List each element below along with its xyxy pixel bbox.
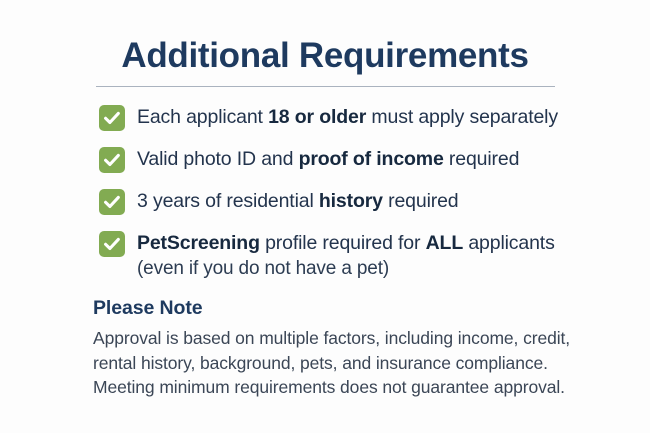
requirement-emphasis: ALL: [426, 232, 463, 254]
requirement-text: 3 years of residential history required: [137, 188, 459, 214]
requirement-text: Valid photo ID and proof of income requi…: [137, 146, 519, 172]
requirement-plain: profile required for: [260, 232, 426, 254]
title-divider: [96, 86, 555, 87]
requirement-plain: required: [383, 190, 459, 212]
requirements-card: Additional Requirements Each applicant 1…: [0, 0, 650, 433]
requirement-plain: Valid photo ID and: [137, 148, 299, 170]
requirement-emphasis: PetScreening: [137, 232, 260, 254]
requirement-item: Valid photo ID and proof of income requi…: [99, 146, 599, 173]
requirement-text: PetScreening profile required for ALL ap…: [137, 230, 555, 281]
requirement-item: PetScreening profile required for ALL ap…: [99, 230, 599, 281]
requirements-list: Each applicant 18 or older must apply se…: [99, 104, 599, 281]
checkbox-checked-icon[interactable]: [99, 147, 125, 173]
requirement-plain: must apply separately: [366, 106, 558, 128]
please-note-body: Approval is based on multiple factors, i…: [93, 326, 593, 400]
checkbox-checked-icon[interactable]: [99, 105, 125, 131]
please-note-heading: Please Note: [93, 295, 593, 321]
requirement-emphasis: 18 or older: [268, 106, 366, 128]
please-note-line: Approval is based on multiple factors, i…: [93, 326, 593, 351]
requirement-text: Each applicant 18 or older must apply se…: [137, 104, 558, 130]
please-note-line: Meeting minimum requirements does not gu…: [93, 375, 593, 400]
requirement-item: 3 years of residential history required: [99, 188, 599, 215]
requirement-plain: Each applicant: [137, 106, 268, 128]
requirement-subtext: (even if you do not have a pet): [137, 256, 555, 281]
requirement-plain: 3 years of residential: [137, 190, 319, 212]
requirement-emphasis: history: [319, 190, 383, 212]
please-note-line: rental history, background, pets, and in…: [93, 351, 593, 376]
requirement-plain: required: [444, 148, 520, 170]
page-title: Additional Requirements: [0, 34, 650, 78]
please-note-block: Please Note Approval is based on multipl…: [93, 295, 593, 400]
requirement-item: Each applicant 18 or older must apply se…: [99, 104, 599, 131]
checkbox-checked-icon[interactable]: [99, 189, 125, 215]
requirement-plain: applicants: [463, 232, 555, 254]
requirement-emphasis: proof of income: [299, 148, 444, 170]
checkbox-checked-icon[interactable]: [99, 231, 125, 257]
